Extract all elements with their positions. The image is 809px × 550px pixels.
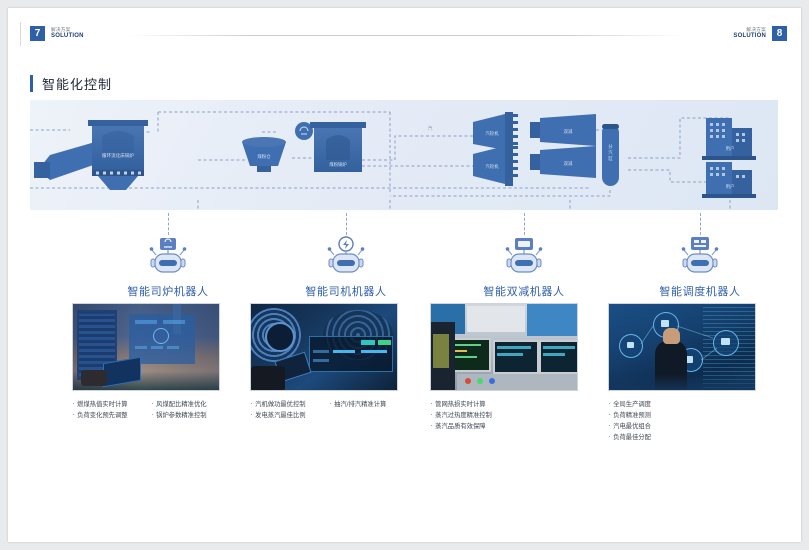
page-title: 智能化控制: [30, 74, 112, 93]
card-1-bullet-0: 汽机做功最优控制: [250, 399, 319, 410]
diagram-node-reducer-2: 双减: [530, 146, 596, 178]
card-1-bullet-1: 抽汽/排汽精准计算: [329, 399, 398, 410]
robot-label-2: 智能双减机器人: [434, 283, 614, 299]
robot-item-0: 智能司炉机器人: [78, 213, 258, 299]
process-diagram-svg: 循环流化床锅炉 煤粉仓 煤粉锅炉 汽: [30, 100, 778, 210]
robot-leader-line-0: [168, 213, 169, 235]
diagram-label-pipe: 汽: [427, 125, 432, 132]
slide-header: 7 解决方案 SOLUTION 解决方案 SOLUTION 8: [8, 8, 801, 46]
robot-reducer-icon: [434, 235, 614, 279]
header-left-en: SOLUTION: [51, 33, 84, 39]
diagram-label-steam-header-3: 缸: [608, 155, 613, 161]
card-3-bullet-2: 汽电最优组合: [608, 421, 651, 432]
diagram-label-turbine-1: 汽轮机: [485, 130, 499, 137]
diagram-node-user-2: 用户: [702, 162, 756, 198]
card-0: 燃煤热值实时计算 风煤配比精准优化 负荷变化预先调整 锅炉参数精准控制: [72, 303, 220, 421]
diagram-node-coal-bunker: 煤粉仓: [242, 137, 286, 172]
card-3: 全局生产调度 负荷精准预测 汽电最优组合 负荷最佳分配: [608, 303, 756, 443]
diagram-label-pc-boiler: 煤粉锅炉: [329, 161, 347, 168]
robot-label-1: 智能司机机器人: [256, 283, 436, 299]
robot-leader-line-2: [524, 213, 525, 235]
diagram-node-cfb-boiler: 循环流化床锅炉: [34, 120, 148, 190]
header-right-en: SOLUTION: [733, 33, 766, 39]
card-2-bullet-2: 蒸汽品质有效保障: [430, 421, 486, 432]
process-diagram: 循环流化床锅炉 煤粉仓 煤粉锅炉 汽: [30, 100, 778, 210]
card-3-bullet-3: 负荷最佳分配: [608, 432, 651, 443]
card-1: 汽机做功最优控制 抽汽/排汽精准计算 发电蒸汽最佳比例: [250, 303, 398, 421]
robot-operator-icon: [256, 235, 436, 279]
card-2-bullets: 管网热损实时计算 蒸汽过热度精准控制 蒸汽品质有效保障: [430, 399, 578, 432]
card-0-bullet-0: 燃煤热值实时计算: [72, 399, 141, 410]
header-left-number: 7: [30, 26, 45, 41]
robot-boiler-icon: [78, 235, 258, 279]
diagram-label-reducer-2: 双减: [564, 160, 573, 167]
diagram-label-cfb-boiler: 循环流化床锅炉: [102, 152, 135, 159]
header-left-rule: [20, 22, 21, 46]
robot-item-3: 智能调度机器人: [610, 213, 790, 299]
card-2: 管网热损实时计算 蒸汽过热度精准控制 蒸汽品质有效保障: [430, 303, 578, 432]
title-accent-bar: [30, 75, 33, 92]
diagram-label-steam-header-1: 分: [608, 143, 613, 150]
robot-row: 智能司炉机器人 智能司机机器人: [30, 213, 778, 293]
card-3-bullets: 全局生产调度 负荷精准预测 汽电最优组合 负荷最佳分配: [608, 399, 756, 443]
robot-dispatch-icon: [610, 235, 790, 279]
card-0-bullet-1: 风煤配比精准优化: [151, 399, 220, 410]
card-3-bullet-1: 负荷精准预测: [608, 410, 651, 421]
diagram-node-user-1: 用户: [702, 118, 756, 160]
card-1-bullets: 汽机做功最优控制 抽汽/排汽精准计算 发电蒸汽最佳比例: [250, 399, 398, 421]
control-room-photo: [430, 303, 578, 391]
turbine-digital-photo: [250, 303, 398, 391]
card-1-bullet-2: 发电蒸汽最佳比例: [250, 410, 320, 421]
diagram-node-steam-header: 分 汽 缸: [602, 124, 619, 186]
robot-item-2: 智能双减机器人: [434, 213, 614, 299]
diagram-node-reducer-1: 双减: [530, 114, 596, 146]
robot-leader-line-1: [346, 213, 347, 235]
card-0-bullets: 燃煤热值实时计算 风煤配比精准优化 负荷变化预先调整 锅炉参数精准控制: [72, 399, 220, 421]
diagram-label-user-1: 用户: [726, 145, 735, 152]
page-title-text: 智能化控制: [42, 74, 112, 93]
diagram-label-coal-bunker: 煤粉仓: [257, 153, 271, 160]
card-3-bullet-0: 全局生产调度: [608, 399, 651, 410]
diagram-label-turbine-2: 汽轮机: [485, 163, 499, 170]
card-0-bullet-2: 负荷变化预先调整: [72, 410, 141, 421]
header-right-number: 8: [772, 26, 787, 41]
diagram-label-reducer-1: 双减: [564, 128, 573, 135]
card-row: 燃煤热值实时计算 风煤配比精准优化 负荷变化预先调整 锅炉参数精准控制: [30, 303, 778, 463]
power-plant-tablet-photo: [72, 303, 220, 391]
header-right-brand: 解决方案 SOLUTION 8: [733, 26, 787, 41]
robot-label-3: 智能调度机器人: [610, 283, 790, 299]
diagram-label-user-2: 用户: [726, 183, 735, 190]
card-0-bullet-3: 锅炉参数精准控制: [151, 410, 220, 421]
header-divider: [126, 35, 686, 36]
dispatch-overview-photo: [608, 303, 756, 391]
robot-item-1: 智能司机机器人: [256, 213, 436, 299]
diagram-node-pc-boiler: 煤粉锅炉: [295, 122, 366, 172]
diagram-label-steam-header-2: 汽: [608, 149, 613, 155]
header-right-text: 解决方案 SOLUTION: [733, 28, 766, 39]
robot-leader-line-3: [700, 213, 701, 235]
card-2-bullet-1: 蒸汽过热度精准控制: [430, 410, 492, 421]
diagram-node-turbine-2: 汽轮机: [473, 144, 518, 186]
card-2-bullet-0: 管网热损实时计算: [430, 399, 486, 410]
slide: 7 解决方案 SOLUTION 解决方案 SOLUTION 8 智能化控制: [8, 8, 801, 542]
robot-label-0: 智能司炉机器人: [78, 283, 258, 299]
header-left-brand: 7 解决方案 SOLUTION: [30, 26, 84, 41]
header-left-text: 解决方案 SOLUTION: [51, 28, 84, 39]
